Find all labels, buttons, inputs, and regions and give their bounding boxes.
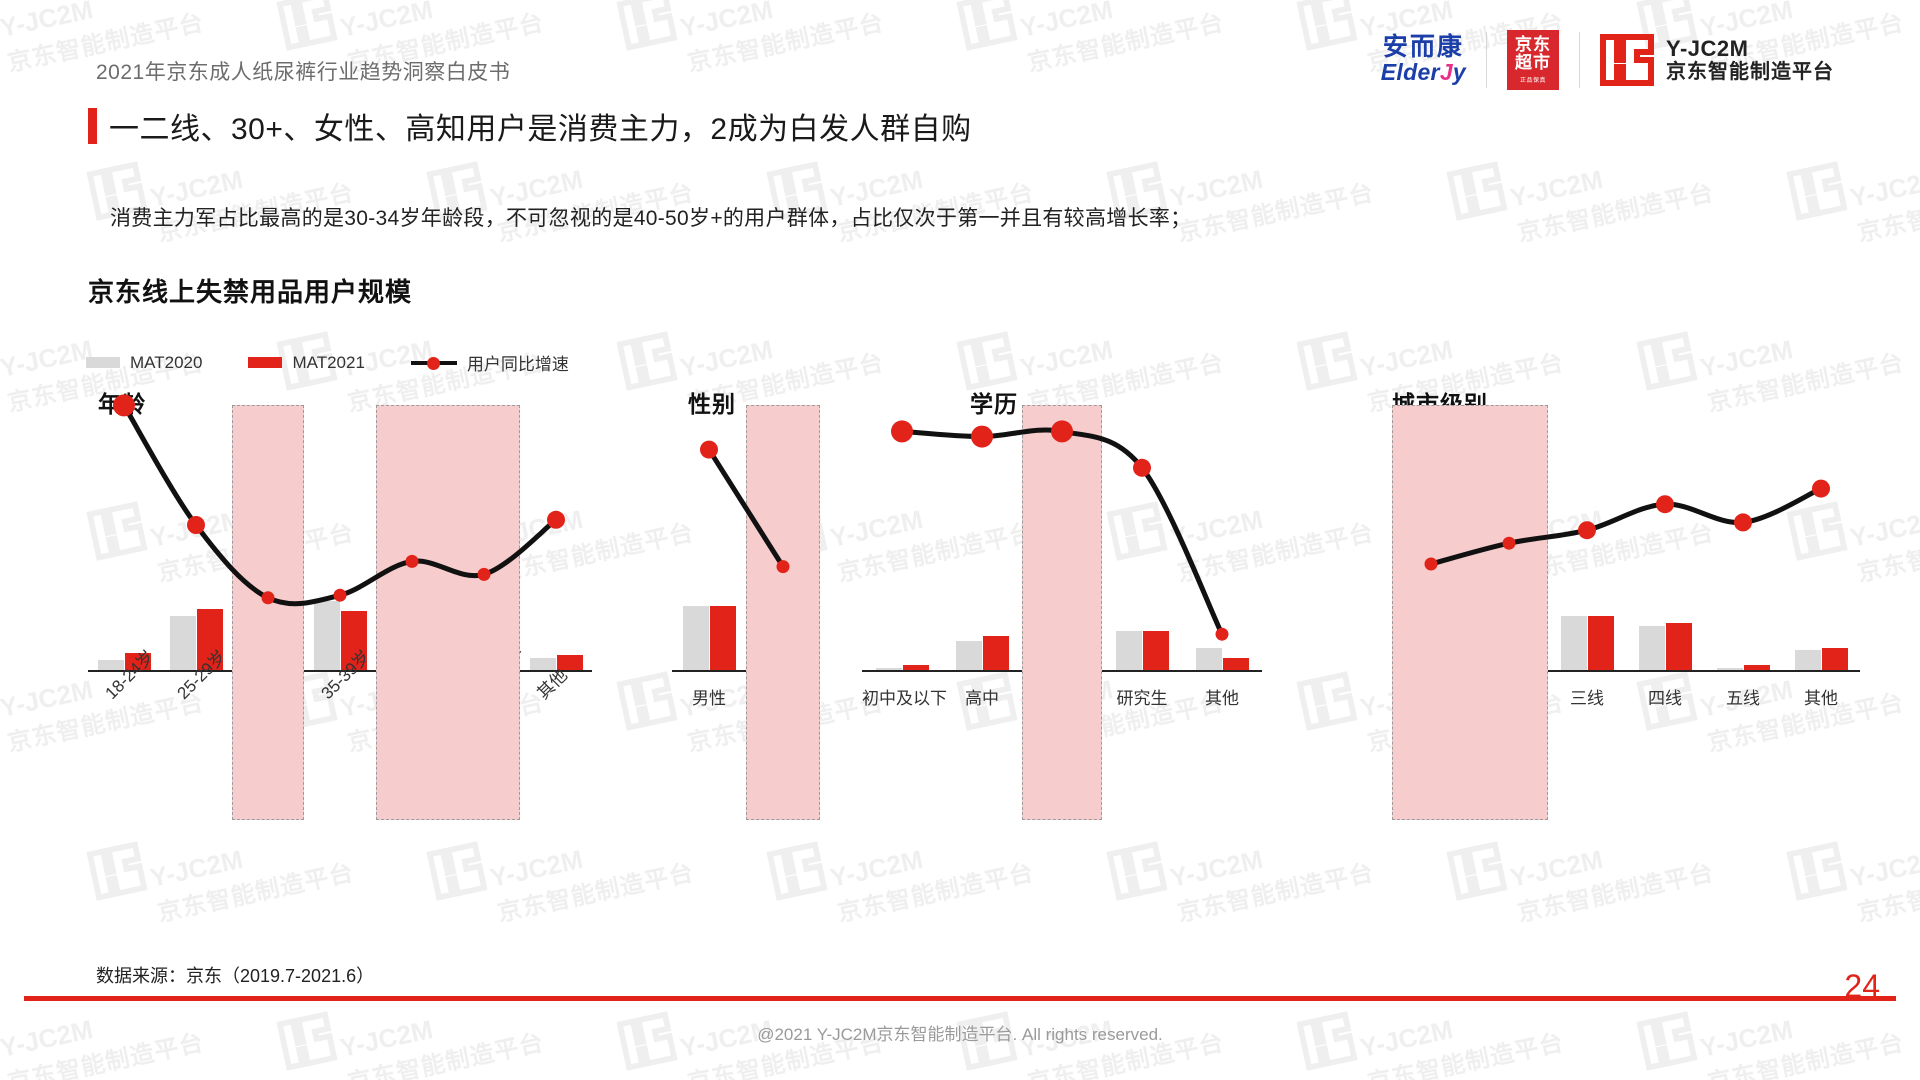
line-point-education-3 (1133, 459, 1151, 477)
legend-swatch-gray-icon (86, 357, 120, 368)
yjc2m-logo-en: Y-JC2M (1666, 36, 1834, 61)
logo-group: 安而康 ElderJy 京东 超市 正品保真 Y-JC2M 京东智能制造平台 (1381, 30, 1834, 90)
line-point-education-1 (971, 426, 993, 448)
line-point-city_tier-1 (1503, 537, 1516, 550)
legend-line-marker-icon (411, 357, 457, 369)
sub-headline-text: 消费主力军占比最高的是30-34岁年龄段，不可忽视的是40-50岁+的用户群体，… (110, 202, 1191, 232)
watermark-mark-icon (1295, 331, 1358, 391)
document-title: 2021年京东成人纸尿裤行业趋势洞察白皮书 (96, 56, 510, 86)
watermark-mark-icon (1635, 331, 1698, 391)
yjc2m-logo-cn: 京东智能制造平台 (1666, 61, 1834, 84)
watermark-mark-icon (955, 331, 1018, 391)
growth-line-city_tier (1392, 385, 1900, 690)
watermark-text: Y-JC2M京东智能制造平台 (1167, 142, 1376, 248)
headline-accent-bar (88, 108, 97, 144)
line-point-education-0 (891, 420, 913, 442)
growth-line-education (862, 385, 1302, 690)
headline-text: 一二线、30+、女性、高知用户是消费主力，2成为白发人群自购 (109, 104, 972, 148)
charts-container: 年龄18-24岁25-29岁30-34岁35-39岁40-49岁50岁以上其他性… (0, 385, 1920, 885)
line-point-age-4 (406, 555, 419, 568)
watermark-text: Y-JC2M京东智能制造平台 (1847, 142, 1920, 248)
legend-item-mat2020: MAT2020 (86, 353, 202, 373)
line-point-age-5 (478, 568, 491, 581)
line-point-education-4 (1216, 628, 1229, 641)
footer-rule (24, 996, 1896, 1001)
data-source-note: 数据来源：京东（2019.7-2021.6） (96, 962, 374, 988)
line-point-age-0 (113, 394, 135, 416)
legend-item-growth: 用户同比增速 (411, 350, 569, 375)
chart-panel-gender: 性别男性女性 (672, 385, 832, 865)
chart-panel-education: 学历初中及以下高中大学研究生其他 (862, 385, 1262, 865)
line-point-city_tier-0 (1425, 558, 1438, 571)
line-point-city_tier-3 (1656, 495, 1674, 513)
chart-legend: MAT2020 MAT2021 用户同比增速 (86, 350, 569, 375)
watermark-mark-icon (615, 331, 678, 391)
line-point-city_tier-2 (1578, 521, 1596, 539)
headline-row: 一二线、30+、女性、高知用户是消费主力，2成为白发人群自购 (88, 104, 972, 148)
watermark-text: Y-JC2M京东智能制造平台 (147, 142, 356, 248)
legend-label-growth: 用户同比增速 (467, 350, 569, 375)
growth-line-gender (672, 385, 860, 690)
line-point-gender-0 (700, 441, 718, 459)
watermark-text: Y-JC2M京东智能制造平台 (487, 142, 696, 248)
jd-supermarket-logo: 京东 超市 正品保真 (1507, 30, 1559, 90)
legend-label-mat2021: MAT2021 (292, 353, 364, 373)
chart-section-title: 京东线上失禁用品用户规模 (88, 272, 412, 309)
legend-swatch-red-icon (248, 357, 282, 368)
line-point-age-2 (262, 591, 275, 604)
legend-label-mat2020: MAT2020 (130, 353, 202, 373)
yjc2m-mark-icon (1600, 34, 1654, 86)
chart-panel-age: 年龄18-24岁25-29岁30-34岁35-39岁40-49岁50岁以上其他 (88, 385, 628, 865)
page-header: 2021年京东成人纸尿裤行业趋势洞察白皮书 安而康 ElderJy 京东 超市 … (0, 0, 1920, 110)
elderjoy-logo: 安而康 ElderJy (1381, 35, 1486, 85)
slide-page: Y-JC2M京东智能制造平台Y-JC2M京东智能制造平台Y-JC2M京东智能制造… (0, 0, 1920, 1080)
page-number: 24 (1844, 968, 1880, 1005)
line-point-age-3 (334, 589, 347, 602)
line-point-city_tier-4 (1734, 513, 1752, 531)
line-point-age-1 (187, 516, 205, 534)
yjc2m-logo: Y-JC2M 京东智能制造平台 (1600, 34, 1834, 86)
line-point-city_tier-5 (1812, 480, 1830, 498)
line-point-gender-1 (777, 560, 790, 573)
chart-panel-city_tier: 城市级别一线二线三线四线五线其他 (1392, 385, 1862, 865)
copyright-text: @2021 Y-JC2M京东智能制造平台. All rights reserve… (0, 1020, 1920, 1045)
elderjoy-logo-cn: 安而康 (1383, 35, 1464, 60)
jd-logo-line2: 超市 (1515, 54, 1551, 72)
growth-line-age (88, 385, 632, 690)
jd-logo-line3: 正品保真 (1520, 75, 1546, 84)
jd-logo-line1: 京东 (1515, 36, 1551, 54)
watermark-mark-icon (1785, 161, 1848, 221)
elderjoy-logo-en: ElderJy (1381, 60, 1466, 85)
logo-divider-1 (1486, 32, 1487, 88)
legend-item-mat2021: MAT2021 (248, 353, 364, 373)
watermark-text: Y-JC2M京东智能制造平台 (827, 142, 1036, 248)
watermark-mark-icon (1445, 161, 1508, 221)
line-point-education-2 (1051, 420, 1073, 442)
line-point-age-6 (547, 511, 565, 529)
watermark-text: Y-JC2M京东智能制造平台 (1507, 142, 1716, 248)
logo-divider-2 (1579, 32, 1580, 88)
